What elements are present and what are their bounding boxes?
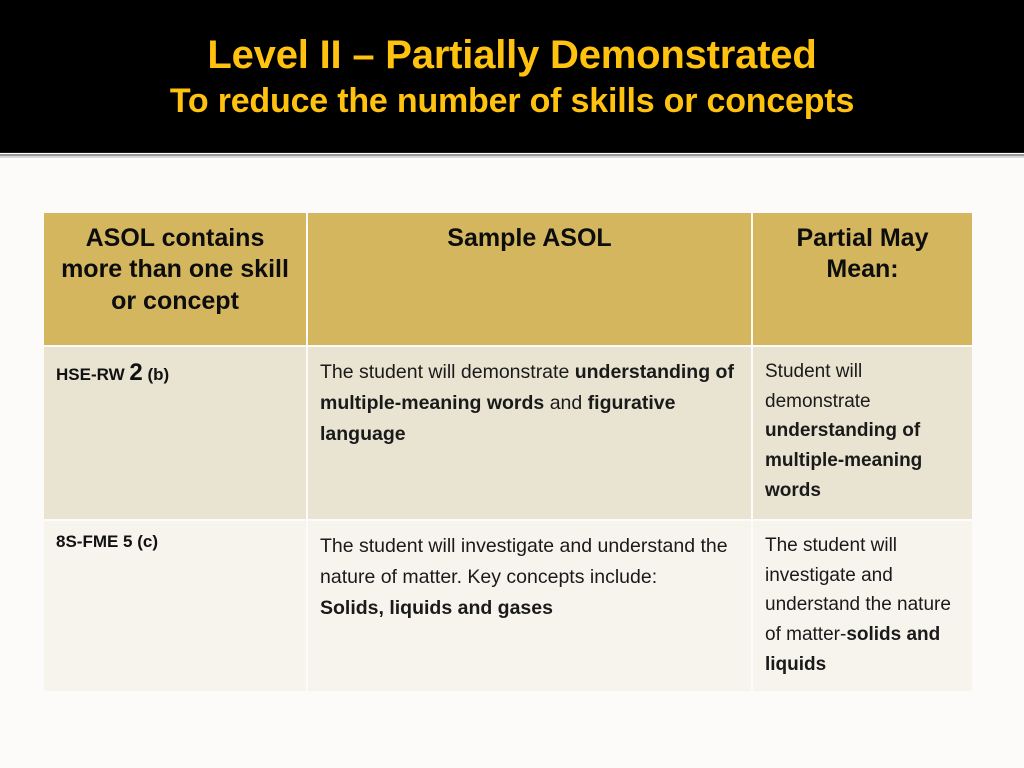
cell-asol-code: 8S-FME 5 (c) (44, 521, 306, 691)
slide-title-primary: Level II – Partially Demonstrated (207, 34, 816, 77)
column-header-asol-contains: ASOL contains more than one skill or con… (44, 213, 306, 345)
banner-divider (0, 152, 1024, 160)
slide-title-secondary: To reduce the number of skills or concep… (170, 81, 854, 122)
asol-code-prefix: HSE-RW (56, 365, 125, 384)
cell-sample-asol: The student will investigate and underst… (308, 521, 751, 691)
asol-code-prefix: 8S-FME 5 (c) (56, 532, 158, 551)
asol-table: ASOL contains more than one skill or con… (42, 211, 974, 693)
asol-code-number: 2 (129, 359, 142, 386)
sample-text-bold-1: Solids, liquids and gases (320, 597, 553, 619)
title-banner: Level II – Partially Demonstrated To red… (0, 0, 1024, 152)
table-row: HSE-RW 2 (b) The student will demonstrat… (44, 347, 972, 519)
asol-code-suffix: (b) (147, 365, 169, 384)
table-body: HSE-RW 2 (b) The student will demonstrat… (44, 347, 972, 691)
sample-text-plain-2: and (544, 392, 587, 414)
table-header: ASOL contains more than one skill or con… (44, 213, 972, 345)
cell-partial-may-mean: The student will investigate and underst… (753, 521, 972, 691)
table-row: 8S-FME 5 (c) The student will investigat… (44, 521, 972, 691)
sample-text-plain-1: The student will demonstrate (320, 361, 575, 383)
column-header-sample-asol: Sample ASOL (308, 213, 751, 345)
cell-sample-asol: The student will demonstrate understandi… (308, 347, 751, 519)
sample-text-plain-1: The student will investigate and underst… (320, 535, 728, 588)
column-header-partial-may-mean: Partial May Mean: (753, 213, 972, 345)
mean-text-plain-1: Student will demonstrate (765, 361, 871, 412)
mean-text-bold-1: understanding of multiple-meaning words (765, 420, 922, 500)
cell-partial-may-mean: Student will demonstrate understanding o… (753, 347, 972, 519)
table-header-row: ASOL contains more than one skill or con… (44, 213, 972, 345)
cell-asol-code: HSE-RW 2 (b) (44, 347, 306, 519)
